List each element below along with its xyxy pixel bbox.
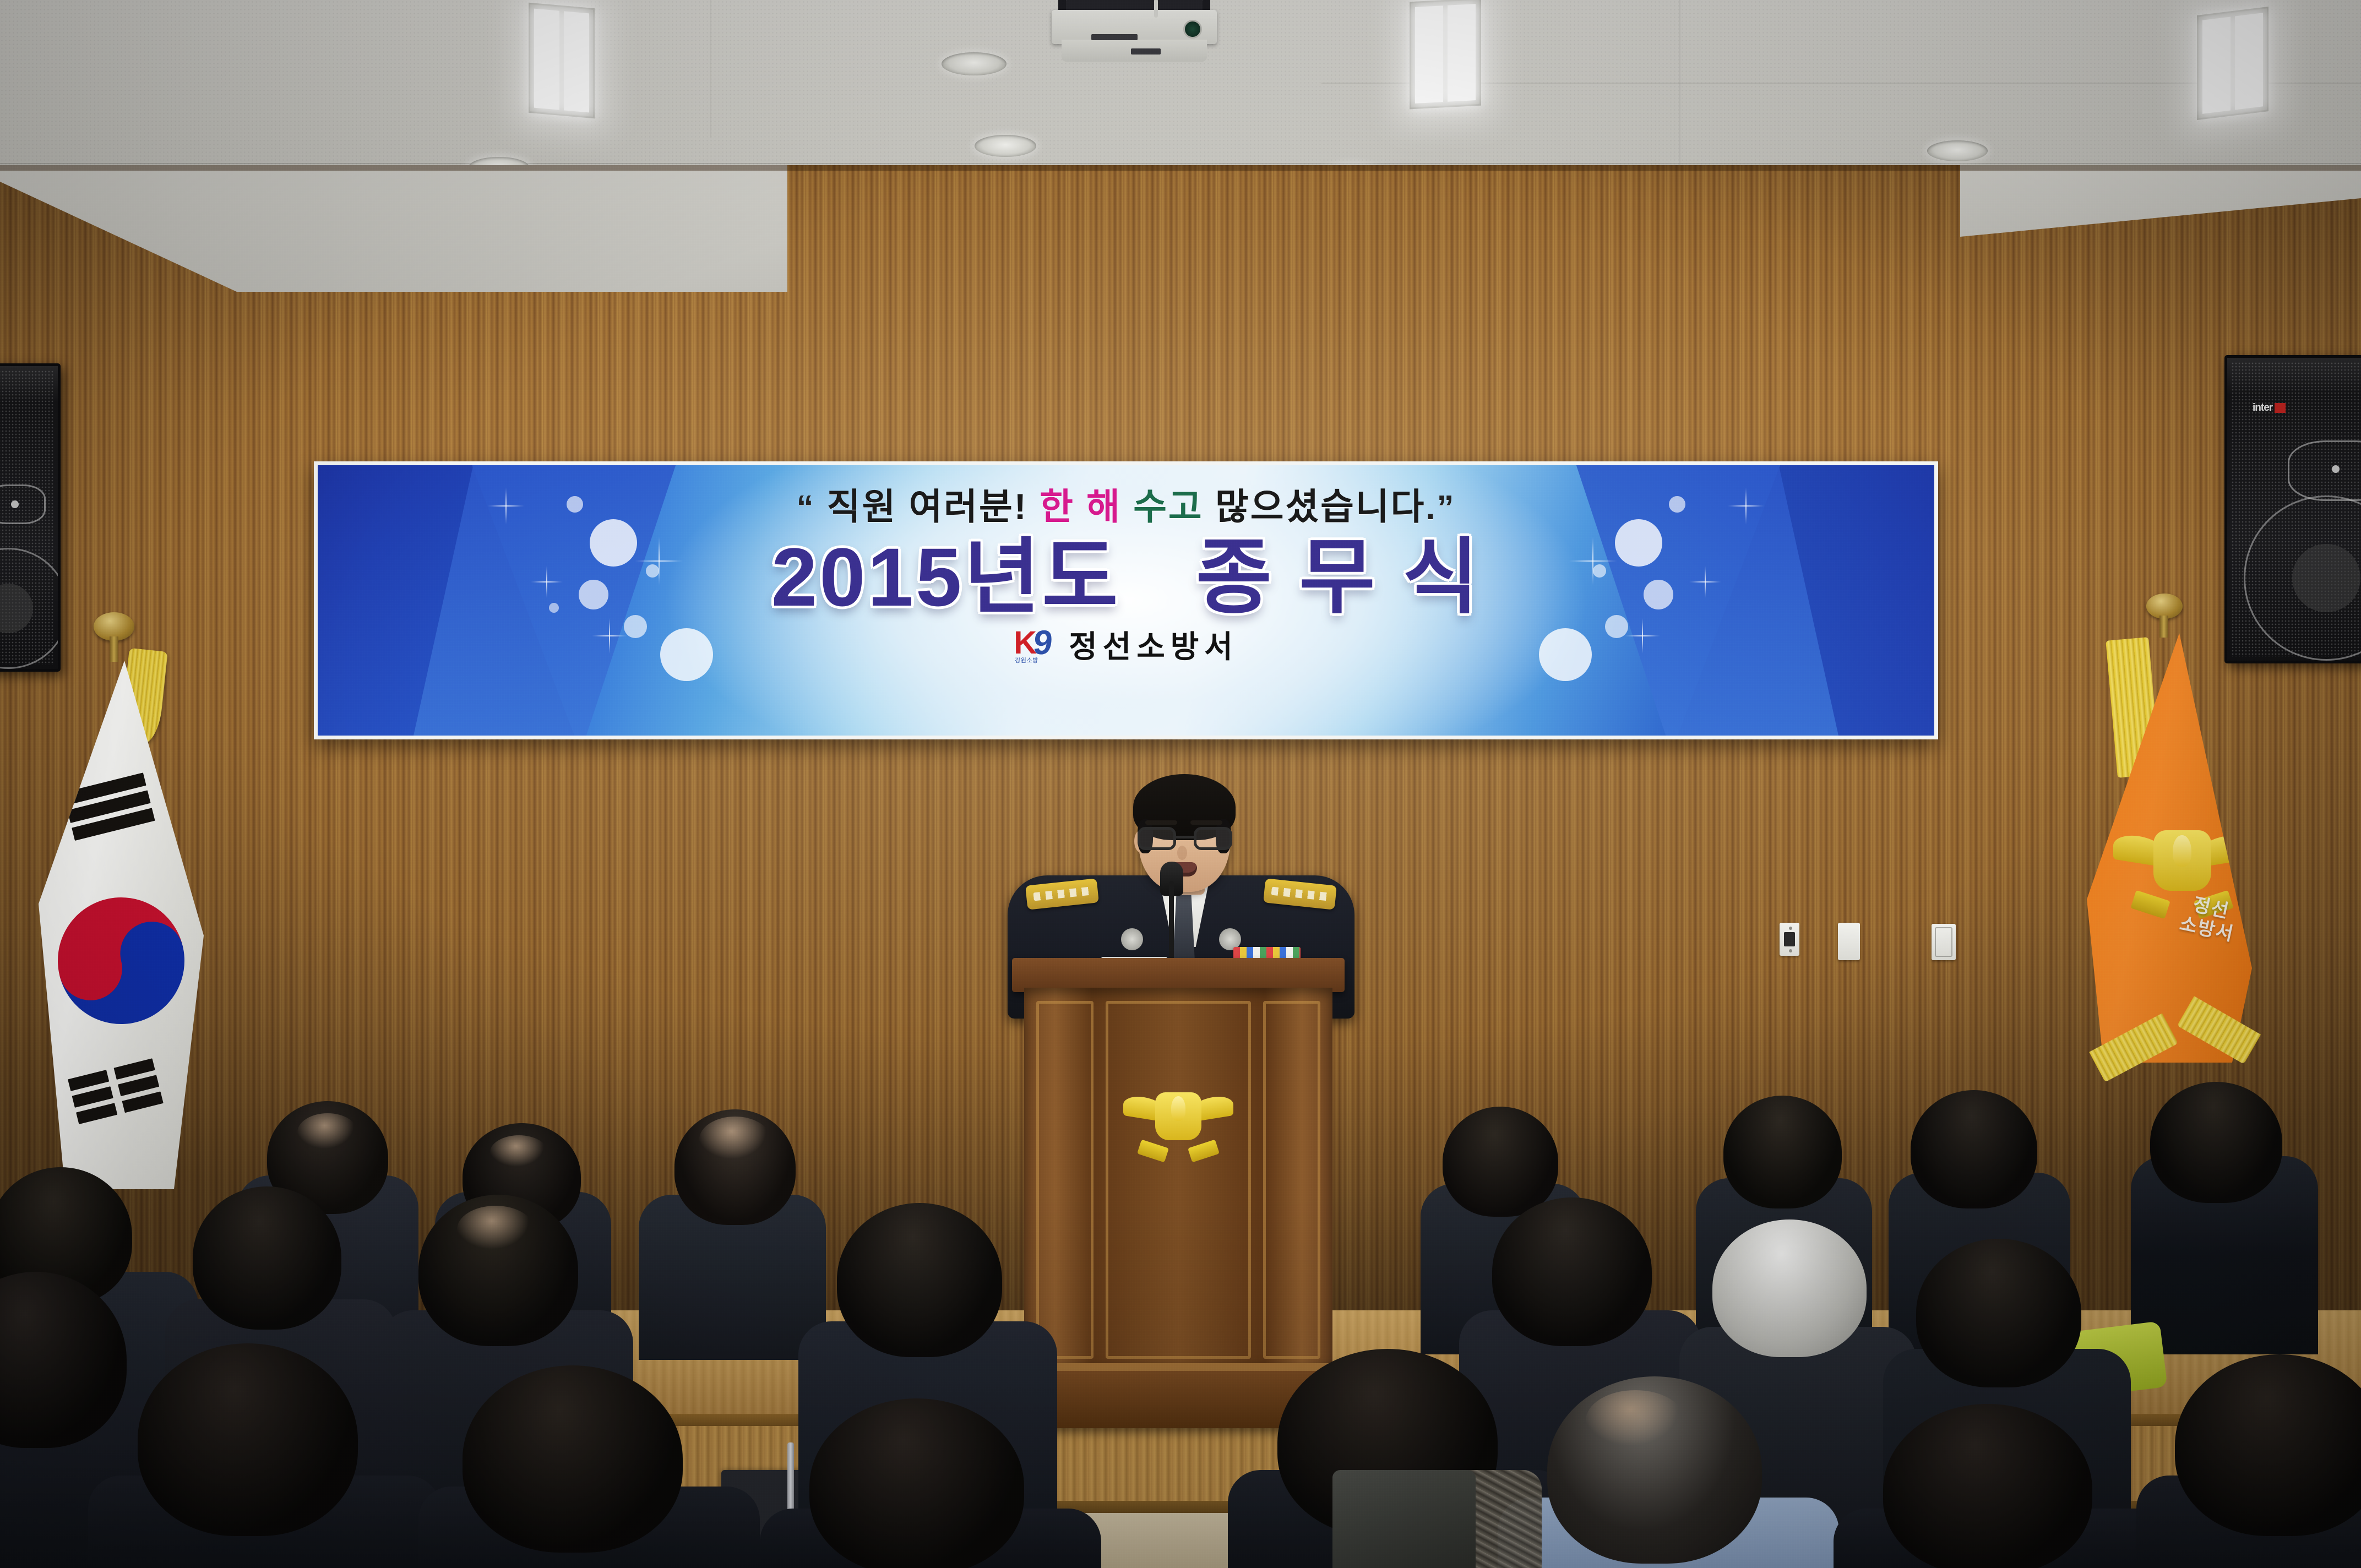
pa-speaker-left bbox=[0, 363, 61, 672]
banner-title-event: 종 무 식 bbox=[1196, 531, 1481, 623]
recessed-downlight bbox=[1927, 140, 1988, 161]
audience bbox=[0, 1090, 2361, 1568]
ceiling-seam bbox=[0, 163, 2361, 164]
screw-dot bbox=[1789, 927, 1792, 930]
screw-dot bbox=[1789, 949, 1792, 952]
glasses-bridge bbox=[1176, 836, 1194, 839]
audience-person-head bbox=[193, 1186, 341, 1330]
recessed-downlight bbox=[942, 52, 1007, 75]
audience-bald-spot bbox=[297, 1113, 358, 1152]
person-eyebrow-right bbox=[1190, 820, 1222, 825]
glasses-lens-right bbox=[1194, 827, 1232, 850]
close-quote: .” bbox=[1426, 489, 1455, 527]
audience-bag bbox=[1332, 1470, 1476, 1568]
open-quote: “ bbox=[796, 489, 815, 527]
speaker-brand-text: inter bbox=[2253, 402, 2272, 414]
event-banner: “ 직원 여러분! 한 해 수고 많으셨습니다.” 2015년도 종 무 식 K… bbox=[314, 461, 1938, 739]
audience-person-head bbox=[1911, 1090, 2037, 1208]
audience-person-head bbox=[837, 1203, 1002, 1357]
pa-speaker-right: inter bbox=[2224, 355, 2361, 663]
k9-logo-icon: K 9 강원소방 bbox=[1014, 626, 1061, 662]
glasses-lens-left bbox=[1138, 827, 1176, 850]
audience-person-head-white-hair bbox=[1712, 1219, 1867, 1357]
audience-person-head bbox=[1723, 1096, 1842, 1208]
speaker-woofer bbox=[2244, 496, 2361, 661]
microphone-stand bbox=[1169, 881, 1174, 969]
recessed-downlight bbox=[975, 135, 1036, 157]
speaker-woofer bbox=[0, 548, 61, 669]
audience-person-head bbox=[1443, 1107, 1558, 1217]
projector-vent bbox=[1131, 48, 1161, 55]
banner-title-year: 2015년도 bbox=[771, 531, 1120, 623]
tagline-part4: 많으셨습니다 bbox=[1215, 486, 1426, 527]
fluorescent-light-fixture bbox=[2197, 7, 2268, 120]
person-nose bbox=[1177, 846, 1187, 860]
banner-content: “ 직원 여러분! 한 해 수고 많으셨습니다.” 2015년도 종 무 식 K… bbox=[318, 465, 1934, 736]
projector-vent bbox=[1091, 34, 1138, 40]
projector-lens bbox=[1183, 20, 1202, 39]
fluorescent-light-fixture bbox=[529, 3, 595, 118]
taeguk-symbol bbox=[45, 884, 198, 1038]
flag-finial-stem bbox=[2159, 616, 2168, 638]
audience-person-head bbox=[2150, 1082, 2282, 1203]
audience-person-head bbox=[1883, 1404, 2092, 1568]
wall-top-shadow bbox=[0, 165, 2361, 171]
fluorescent-light-fixture bbox=[1410, 0, 1481, 109]
banner-tagline: “ 직원 여러분! 한 해 수고 많으셨습니다.” bbox=[796, 477, 1455, 530]
speaker-tweeter bbox=[2288, 440, 2361, 501]
ceiling-seam bbox=[1679, 0, 1680, 165]
audience-person-head bbox=[809, 1398, 1024, 1568]
k9-logo-subtext: 강원소방 bbox=[1015, 656, 1038, 665]
audience-person-head bbox=[463, 1365, 683, 1553]
banner-organization: K 9 강원소방 정선소방서 bbox=[1014, 622, 1238, 667]
emblem-core bbox=[2153, 830, 2211, 891]
flag-finial-stem bbox=[110, 636, 118, 662]
speaker-tweeter bbox=[0, 484, 46, 524]
speaker-brand-logo: inter bbox=[2253, 402, 2286, 414]
tagline-part3: 수고 bbox=[1133, 486, 1203, 527]
wall-plate-switch[interactable] bbox=[1780, 923, 1799, 956]
tagline-part1: 직원 여러분! bbox=[827, 486, 1028, 527]
banner-org-name: 정선소방서 bbox=[1069, 622, 1238, 667]
k9-logo-9: 9 bbox=[1032, 626, 1054, 660]
audience-bald-spot bbox=[699, 1117, 771, 1163]
wall-plate-blank bbox=[1838, 923, 1860, 960]
projector-cable bbox=[1154, 0, 1158, 18]
audience-bald-spot bbox=[490, 1135, 548, 1169]
audience-person-head bbox=[1916, 1239, 2081, 1387]
audience-person-head bbox=[138, 1343, 358, 1536]
audience-bald-spot bbox=[1586, 1390, 1685, 1451]
collar-badge-left bbox=[1121, 928, 1143, 950]
photo-scene: inter bbox=[0, 0, 2361, 1568]
podium-top bbox=[1012, 958, 1345, 992]
ceiling-projector bbox=[1052, 0, 1217, 63]
audience-bald-spot bbox=[457, 1206, 534, 1253]
audience-person-head bbox=[1492, 1197, 1652, 1346]
switch-rocker[interactable] bbox=[1784, 932, 1795, 946]
person-eyebrow-left bbox=[1145, 820, 1177, 825]
wall-plate-outlet[interactable] bbox=[1932, 924, 1956, 960]
outlet-face bbox=[1935, 927, 1952, 957]
tagline-part2: 한 해 bbox=[1040, 486, 1122, 527]
ceiling-seam bbox=[710, 0, 711, 138]
banner-title: 2015년도 종 무 식 bbox=[771, 535, 1481, 620]
audience-person-head bbox=[2175, 1354, 2361, 1536]
emblem-leg-left bbox=[2130, 890, 2170, 919]
necktie bbox=[1173, 895, 1195, 961]
